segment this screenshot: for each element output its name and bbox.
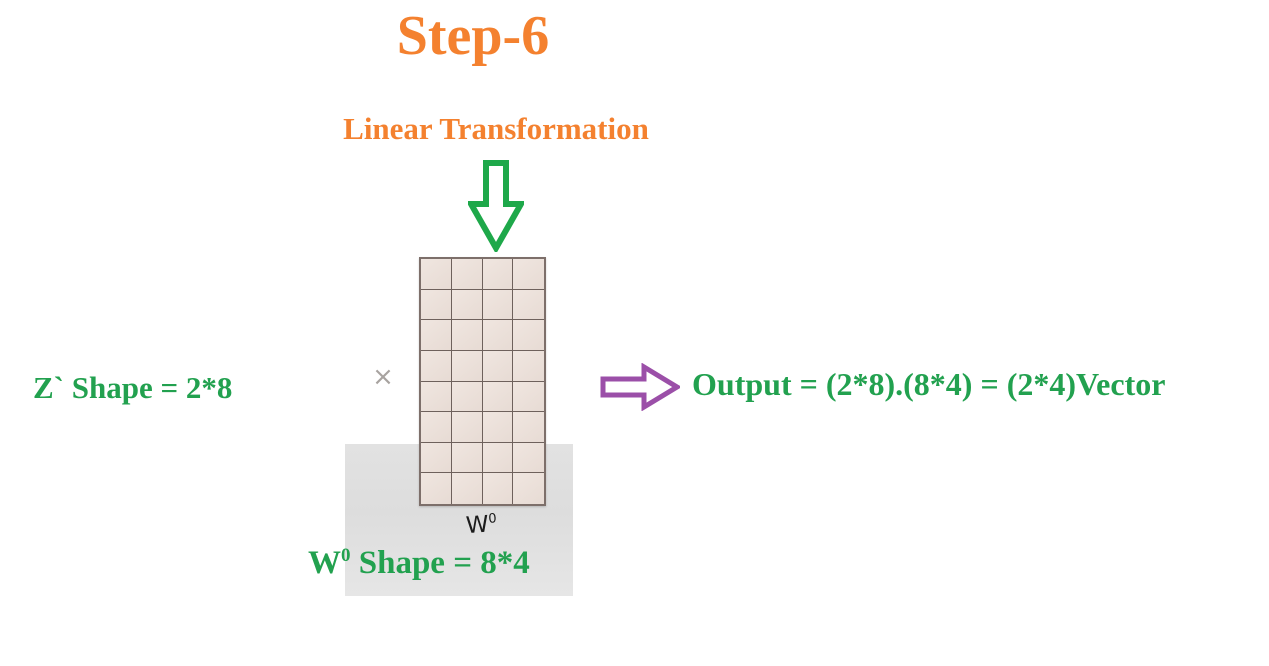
matrix-cell (421, 382, 452, 413)
matrix-cell (513, 320, 544, 351)
matrix-cell (483, 443, 514, 474)
matrix-cell (452, 259, 483, 290)
matrix-handwritten-label: W0 (465, 511, 498, 539)
w0-shape-label: W0 Shape = 8*4 (308, 545, 530, 582)
matrix-cell (452, 473, 483, 504)
matrix-cell (421, 320, 452, 351)
matrix-cell (452, 382, 483, 413)
right-arrow-icon (600, 363, 680, 411)
matrix-cell (421, 259, 452, 290)
matrix-cell (421, 412, 452, 443)
z-shape-label: Z` Shape = 2*8 (33, 370, 232, 406)
matrix-cell (513, 259, 544, 290)
w0-shape-text: Shape = 8*4 (359, 545, 530, 581)
output-label: Output = (2*8).(8*4) = (2*4)Vector (692, 366, 1165, 403)
subtitle-linear-transformation: Linear Transformation (0, 110, 992, 147)
matrix-cell (452, 351, 483, 382)
w0-shape-prefix: W (308, 545, 341, 581)
matrix-cell (483, 259, 514, 290)
matrix-cell (513, 290, 544, 321)
matrix-cell (483, 320, 514, 351)
matrix-cell (452, 290, 483, 321)
matrix-cell (421, 443, 452, 474)
matrix-handwritten-base: W (465, 512, 490, 540)
matrix-cell (483, 412, 514, 443)
down-arrow-icon (468, 160, 524, 252)
matrix-handwritten-superscript: 0 (488, 511, 497, 527)
matrix-cell (421, 473, 452, 504)
matrix-cell (421, 351, 452, 382)
matrix-cell (513, 443, 544, 474)
matrix-grid-w0 (419, 257, 546, 506)
matrix-cell (483, 351, 514, 382)
matrix-cell (513, 412, 544, 443)
matrix-cell (483, 290, 514, 321)
matrix-cell (452, 320, 483, 351)
matrix-cell (452, 412, 483, 443)
matrix-cell (513, 382, 544, 413)
page-title: Step-6 (0, 6, 946, 68)
matrix-cell (483, 473, 514, 504)
matrix-cell (452, 443, 483, 474)
multiply-icon: × (370, 362, 396, 392)
matrix-cell (421, 290, 452, 321)
matrix-cell (513, 473, 544, 504)
matrix-cell (483, 382, 514, 413)
matrix-cell (513, 351, 544, 382)
w0-shape-superscript: 0 (341, 545, 351, 566)
